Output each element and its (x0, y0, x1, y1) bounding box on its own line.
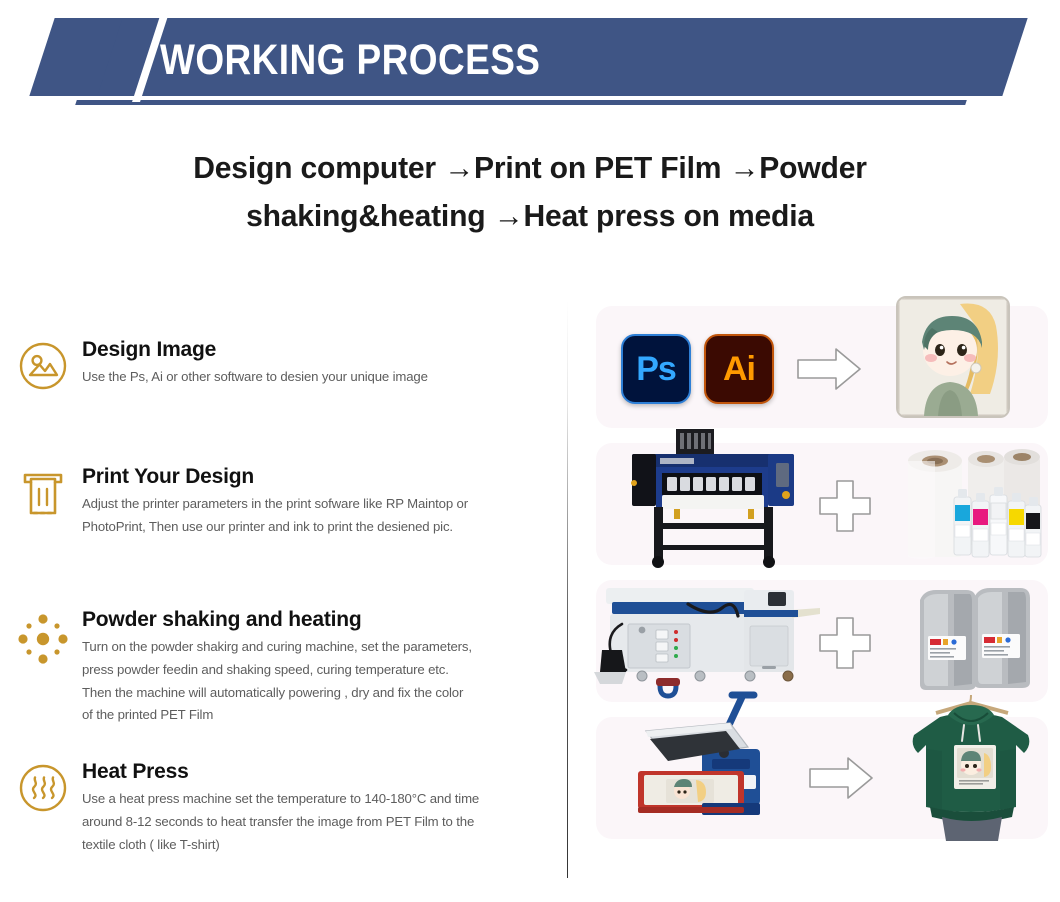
step-description-line: Use a heat press machine set the tempera… (82, 788, 542, 811)
step-title: Heat Press (82, 760, 542, 784)
dtf-printer-photo (618, 427, 808, 569)
process-step-design-image: Design Image Use the Ps, Ai or other sof… (12, 338, 552, 400)
step-description-line: Turn on the powder shakirg and curing ma… (82, 636, 542, 659)
panel-artwork: Ps Ai (596, 306, 1048, 428)
printer-icon (12, 465, 74, 527)
illustrator-app-icon: Ai (704, 334, 774, 404)
step-description-line: around 8-12 seconds to heat transfer the… (82, 811, 542, 834)
step-text-block: Heat Press Use a heat press machine set … (74, 760, 552, 856)
powder-shaking-curing-machine-photo (592, 574, 832, 700)
image-mountain-circle-icon (12, 338, 74, 400)
printer-and-consumables-panel (596, 443, 1048, 565)
step-text-block: Design Image Use the Ps, Ai or other sof… (74, 338, 552, 389)
panel-artwork (596, 580, 1048, 702)
printed-green-hoodie-photo (896, 691, 1046, 843)
subtitle-line-1: Design computer →Print on PET Film →Powd… (113, 144, 947, 192)
banner-underline-rule (75, 100, 967, 105)
step-description: Turn on the powder shakirg and curing ma… (82, 636, 542, 727)
powder-dots-icon (12, 608, 74, 670)
subtitle-line-2: shaking&heating →Heat press on media (113, 192, 947, 240)
process-flow-subtitle: Design computer →Print on PET Film →Powd… (100, 144, 960, 240)
step-description-line: Use the Ps, Ai or other software to desi… (82, 366, 542, 389)
heat-press-machine-photo (624, 691, 824, 841)
hot-melt-powder-bags-photo (914, 584, 1036, 696)
step-text-block: Powder shaking and heating Turn on the p… (74, 608, 552, 727)
step-description-line: press powder feedin and shaking speed, c… (82, 659, 542, 682)
step-description-line: Adjust the printer parameters in the pri… (82, 493, 542, 516)
photoshop-app-icon: Ps (621, 334, 691, 404)
column-divider (567, 300, 568, 878)
powder-shaker-panel (596, 580, 1048, 702)
step-text-block: Print Your Design Adjust the printer par… (74, 465, 552, 539)
step-title: Powder shaking and heating (82, 608, 542, 632)
panel-artwork (596, 717, 1048, 839)
step-description-line: textile cloth ( like T-shirt) (82, 834, 542, 857)
heat-waves-circle-icon (12, 760, 74, 822)
step-title: Design Image (82, 338, 542, 362)
step-title: Print Your Design (82, 465, 542, 489)
page-title: WORKING PROCESS (160, 30, 848, 90)
arrow-right-icon (796, 346, 862, 392)
pet-film-rolls-photo (892, 443, 1042, 565)
header-banner: WORKING PROCESS (0, 0, 1060, 128)
design-software-panel: Ps Ai (596, 306, 1048, 428)
heat-press-panel (596, 717, 1048, 839)
step-description: Use a heat press machine set the tempera… (82, 788, 542, 856)
pearl-girl-artwork-thumbnail (896, 296, 1010, 418)
step-description-line: PhotoPrint, Then use our printer and ink… (82, 516, 542, 539)
panel-artwork (596, 443, 1048, 565)
step-description-line: Then the machine will automatically powe… (82, 682, 542, 705)
process-step-powder-shaking-heating: Powder shaking and heating Turn on the p… (12, 608, 552, 727)
process-step-print-your-design: Print Your Design Adjust the printer par… (12, 465, 552, 539)
plus-icon (818, 616, 872, 670)
plus-icon (818, 479, 872, 533)
arrow-right-icon (808, 755, 874, 801)
step-description: Adjust the printer parameters in the pri… (82, 493, 542, 538)
process-step-heat-press: Heat Press Use a heat press machine set … (12, 760, 552, 856)
step-description: Use the Ps, Ai or other software to desi… (82, 366, 542, 389)
step-description-line: of the printed PET Film (82, 704, 542, 727)
